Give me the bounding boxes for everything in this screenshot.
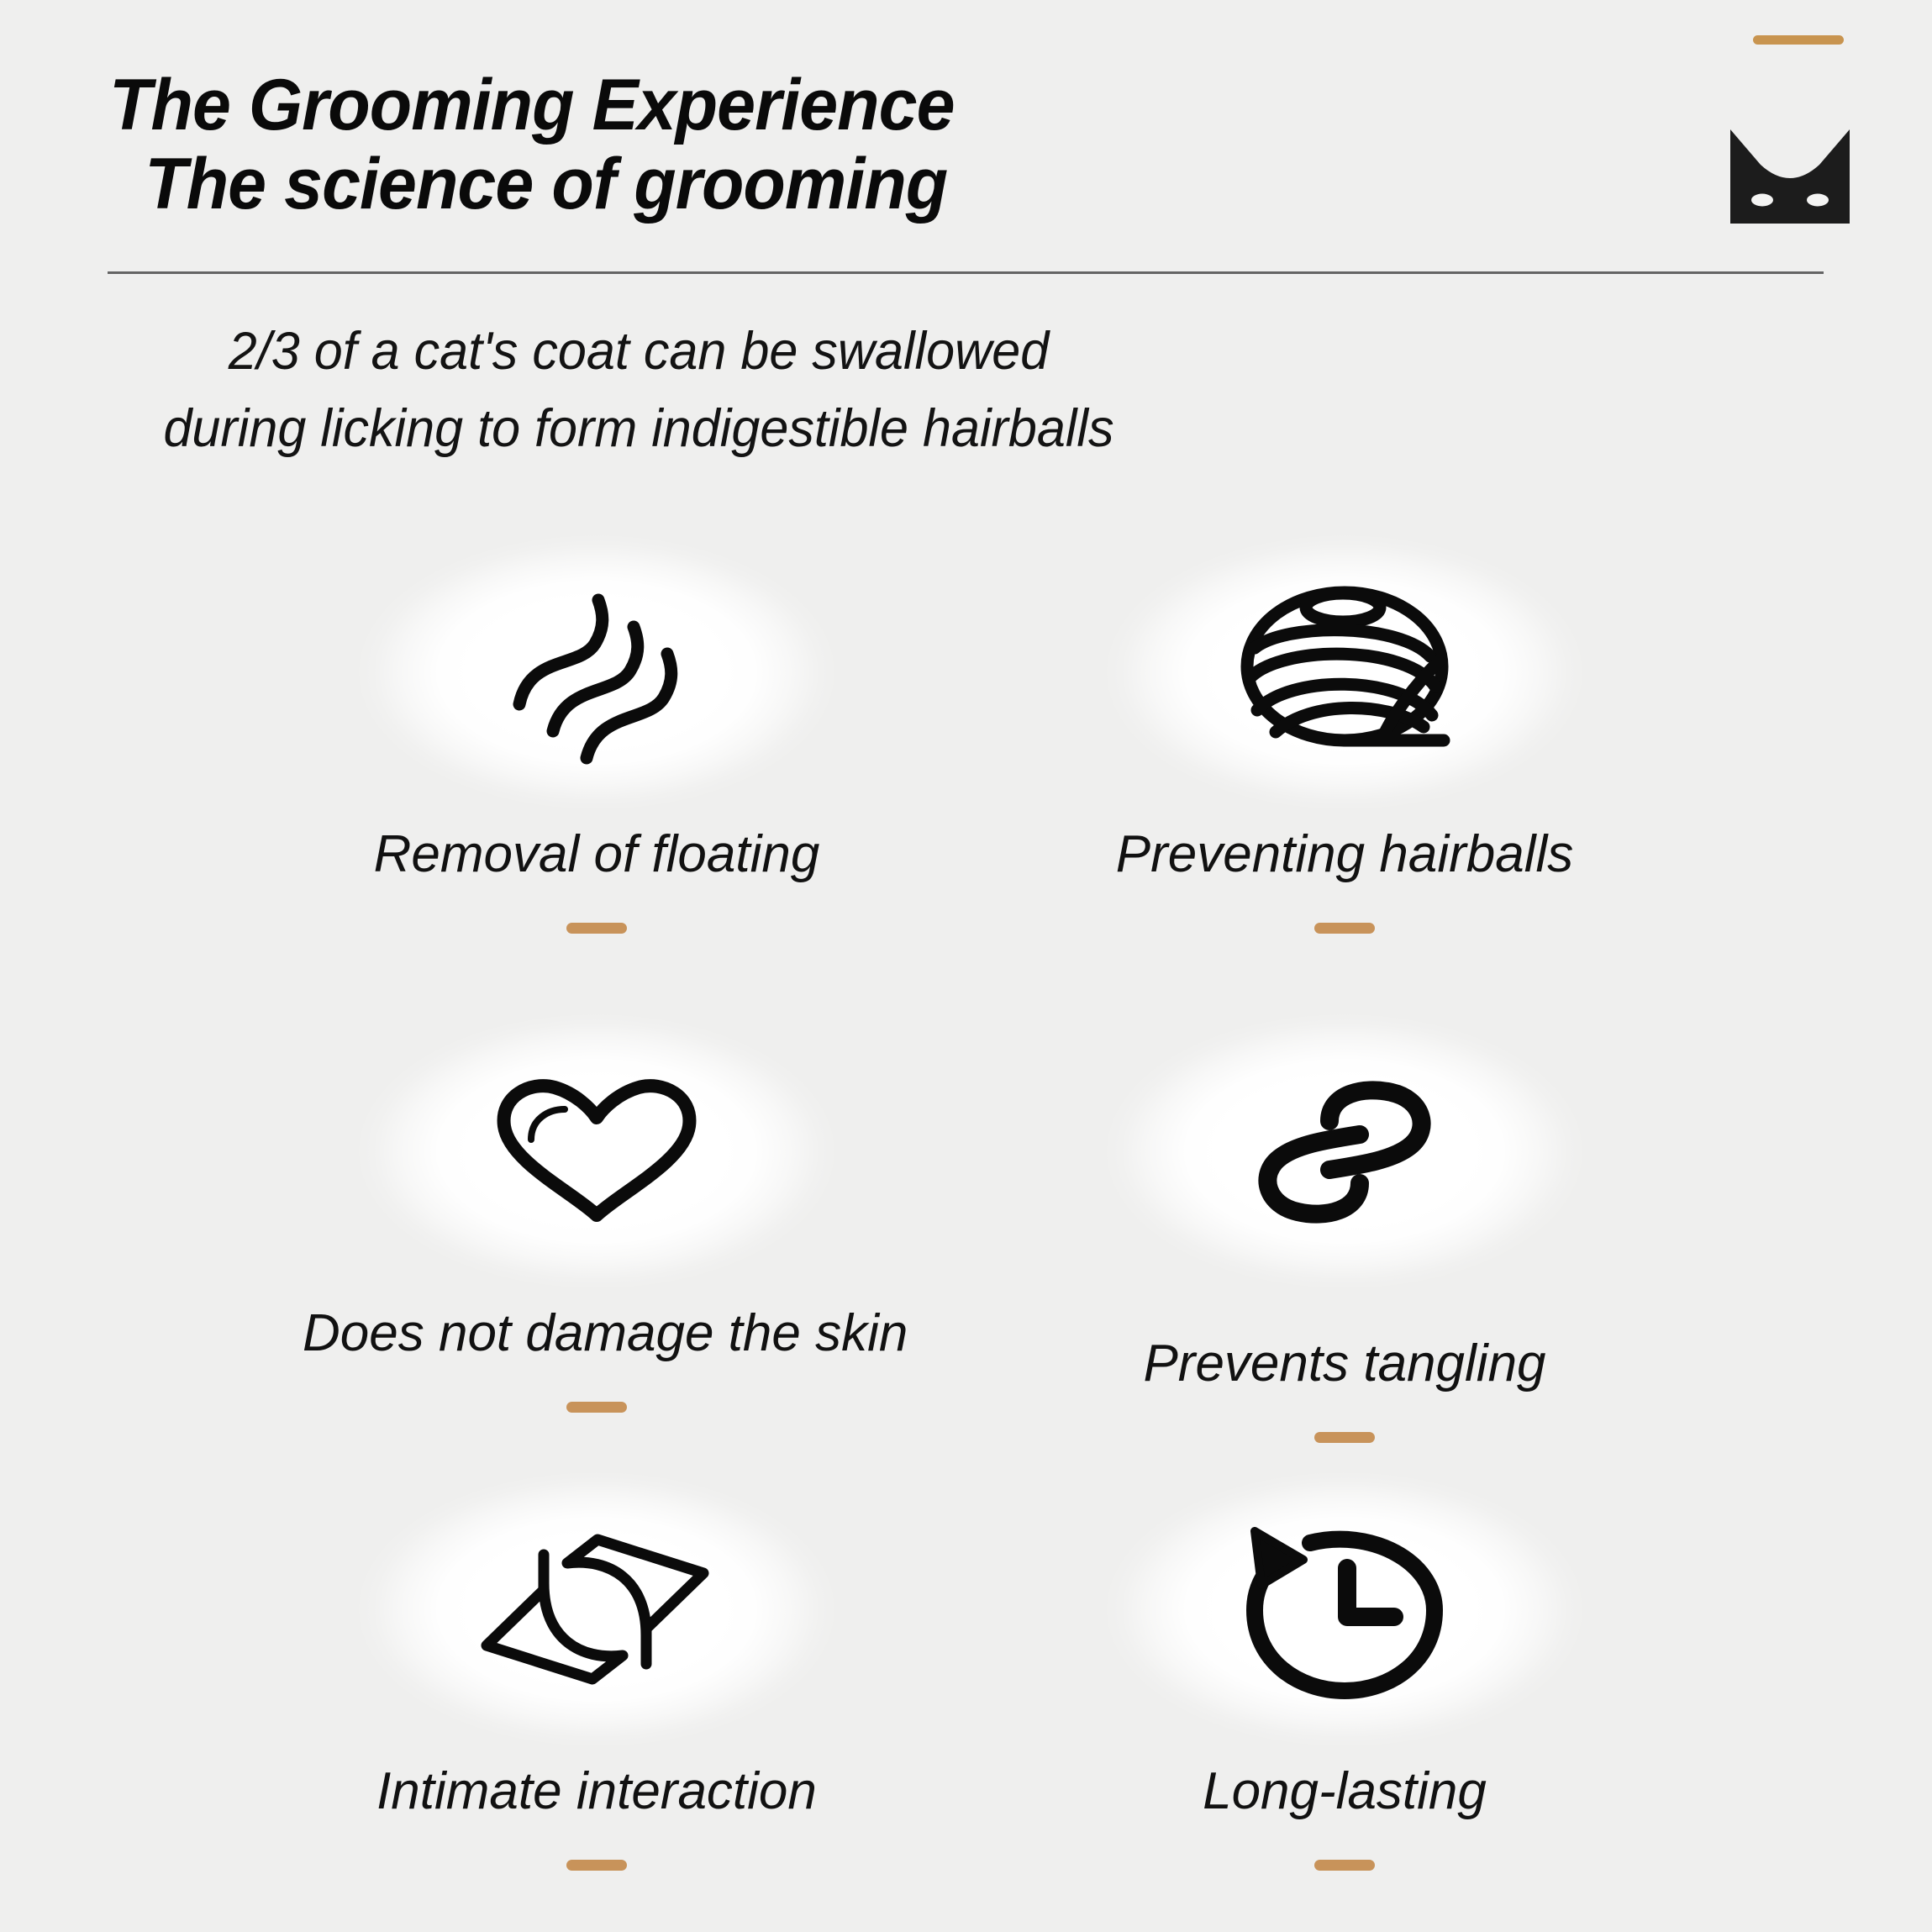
feature-grid: Removal of floating	[0, 521, 1932, 1932]
header-divider	[108, 271, 1824, 274]
feature-label: Intimate interaction	[303, 1761, 891, 1823]
feature-accent-bar	[1314, 1432, 1375, 1443]
yarn-hairball-icon	[1219, 567, 1471, 777]
feature-item-does-not-damage-skin: Does not damage the skin	[303, 1000, 891, 1413]
icon-glow	[345, 1458, 849, 1761]
feature-item-preventing-hairballs: Preventing hairballs	[1050, 521, 1639, 934]
knot-loop-icon	[1219, 1050, 1471, 1252]
subtitle-line-2: during licking to form indigestible hair…	[19, 390, 1258, 467]
feature-item-long-lasting: Long-lasting	[1050, 1458, 1639, 1871]
icon-glow	[1092, 1000, 1597, 1303]
feature-accent-bar	[566, 1860, 627, 1871]
feature-label: Preventing hairballs	[1050, 824, 1639, 886]
exchange-arrows-icon	[466, 1513, 727, 1706]
feature-accent-bar	[1314, 1860, 1375, 1871]
subtitle-line-1: 2/3 of a cat's coat can be swallowed	[19, 313, 1258, 390]
feature-label: Removal of floating	[303, 824, 891, 886]
subtitle: 2/3 of a cat's coat can be swallowed dur…	[0, 313, 1277, 467]
feature-accent-bar	[566, 923, 627, 934]
icon-glow	[1092, 1458, 1597, 1761]
brand-accent-bar	[1753, 35, 1844, 45]
icon-glow	[345, 521, 849, 824]
icon-glow	[1092, 521, 1597, 824]
clock-rotate-icon	[1223, 1513, 1466, 1706]
feature-item-prevents-tangling: Prevents tangling	[1050, 1000, 1639, 1443]
feature-label: Does not damage the skin	[303, 1303, 891, 1365]
heart-outline-icon	[471, 1050, 723, 1252]
feature-accent-bar	[1314, 923, 1375, 934]
feature-item-intimate-interaction: Intimate interaction	[303, 1458, 891, 1871]
page-title: The Grooming Experience The science of g…	[109, 66, 1370, 224]
infographic-page: The Grooming Experience The science of g…	[0, 0, 1932, 1932]
cat-head-logo	[1727, 126, 1853, 227]
header: The Grooming Experience The science of g…	[0, 0, 1932, 277]
icon-glow	[345, 1000, 849, 1303]
feature-label: Prevents tangling	[1050, 1333, 1639, 1395]
feature-label: Long-lasting	[1050, 1761, 1639, 1823]
feature-accent-bar	[566, 1402, 627, 1413]
feature-item-removal-of-floating: Removal of floating	[303, 521, 891, 934]
title-line-1: The Grooming Experience	[109, 66, 1319, 145]
title-line-2: The science of grooming	[109, 145, 1319, 224]
wavy-hair-strands-icon	[471, 563, 723, 782]
